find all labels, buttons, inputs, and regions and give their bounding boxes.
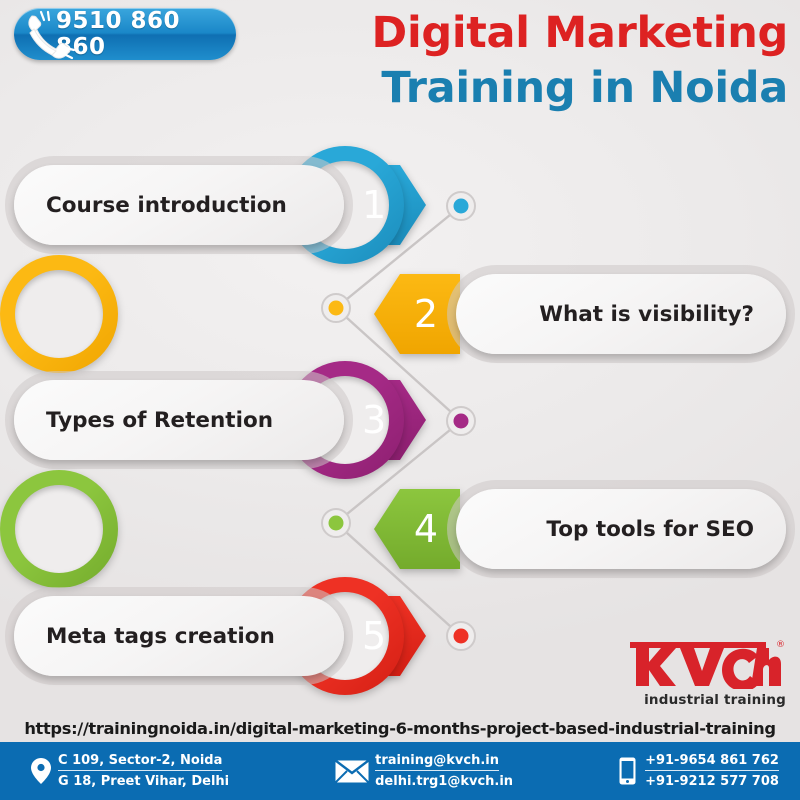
footer-email: training@kvch.in delhi.trg1@kvch.in (329, 742, 513, 800)
address-line-1: C 109, Sector-2, Noida (58, 752, 222, 771)
step-pill[interactable]: Meta tags creation (14, 596, 344, 676)
step-item[interactable]: Course introduction1 (0, 146, 800, 264)
step-item[interactable]: Top tools for SEO4 (0, 470, 800, 588)
step-number-label: 5 (340, 596, 426, 676)
envelope-icon (329, 760, 375, 783)
step-label: Types of Retention (46, 408, 273, 433)
website-url: https://trainingnoida.in/digital-marketi… (24, 719, 775, 738)
step-pill[interactable]: Top tools for SEO (456, 489, 786, 569)
infographic-canvas: 9510 860 860 Digital Marketing Training … (0, 0, 800, 800)
step-number-label: 4 (374, 489, 460, 569)
step-number-label: 3 (340, 380, 426, 460)
page-title: Digital Marketing Training in Noida (372, 6, 788, 116)
registered-mark: ® (776, 640, 785, 650)
address-line-2: G 18, Preet Vihar, Delhi (58, 771, 229, 790)
mobile-phone-icon (609, 757, 645, 785)
footer-phone: +91-9654 861 762 +91-9212 577 708 (609, 742, 779, 800)
step-number-label: 2 (374, 274, 460, 354)
step-pill[interactable]: Types of Retention (14, 380, 344, 460)
contact-footer: C 109, Sector-2, Noida G 18, Preet Vihar… (0, 742, 800, 800)
email-line-1: training@kvch.in (375, 752, 499, 771)
footer-address: C 109, Sector-2, Noida G 18, Preet Vihar… (24, 742, 229, 800)
logo-tagline: industrial training (616, 692, 786, 708)
email-line-2: delhi.trg1@kvch.in (375, 771, 513, 790)
phone-line-2: +91-9212 577 708 (645, 771, 779, 790)
phone-handset-icon (10, 4, 86, 80)
phone-cta-button[interactable]: 9510 860 860 (14, 8, 236, 60)
title-line-1: Digital Marketing (372, 6, 788, 61)
phone-line-1: +91-9654 861 762 (645, 752, 779, 771)
kvch-logo: ® industrial training (616, 633, 786, 708)
step-ring (0, 255, 118, 373)
step-pill[interactable]: What is visibility? (456, 274, 786, 354)
step-item[interactable]: What is visibility?2 (0, 255, 800, 373)
title-line-2: Training in Noida (372, 61, 788, 116)
step-label: What is visibility? (539, 302, 754, 327)
step-label: Meta tags creation (46, 624, 275, 649)
step-ring (0, 470, 118, 588)
step-pill[interactable]: Course introduction (14, 165, 344, 245)
step-label: Course introduction (46, 193, 287, 218)
kvch-wordmark-icon: ® (616, 633, 786, 689)
location-pin-icon (24, 758, 58, 784)
step-number-label: 1 (340, 165, 426, 245)
website-url-bar: https://trainingnoida.in/digital-marketi… (0, 714, 800, 742)
step-item[interactable]: Types of Retention3 (0, 361, 800, 479)
step-label: Top tools for SEO (546, 517, 754, 542)
